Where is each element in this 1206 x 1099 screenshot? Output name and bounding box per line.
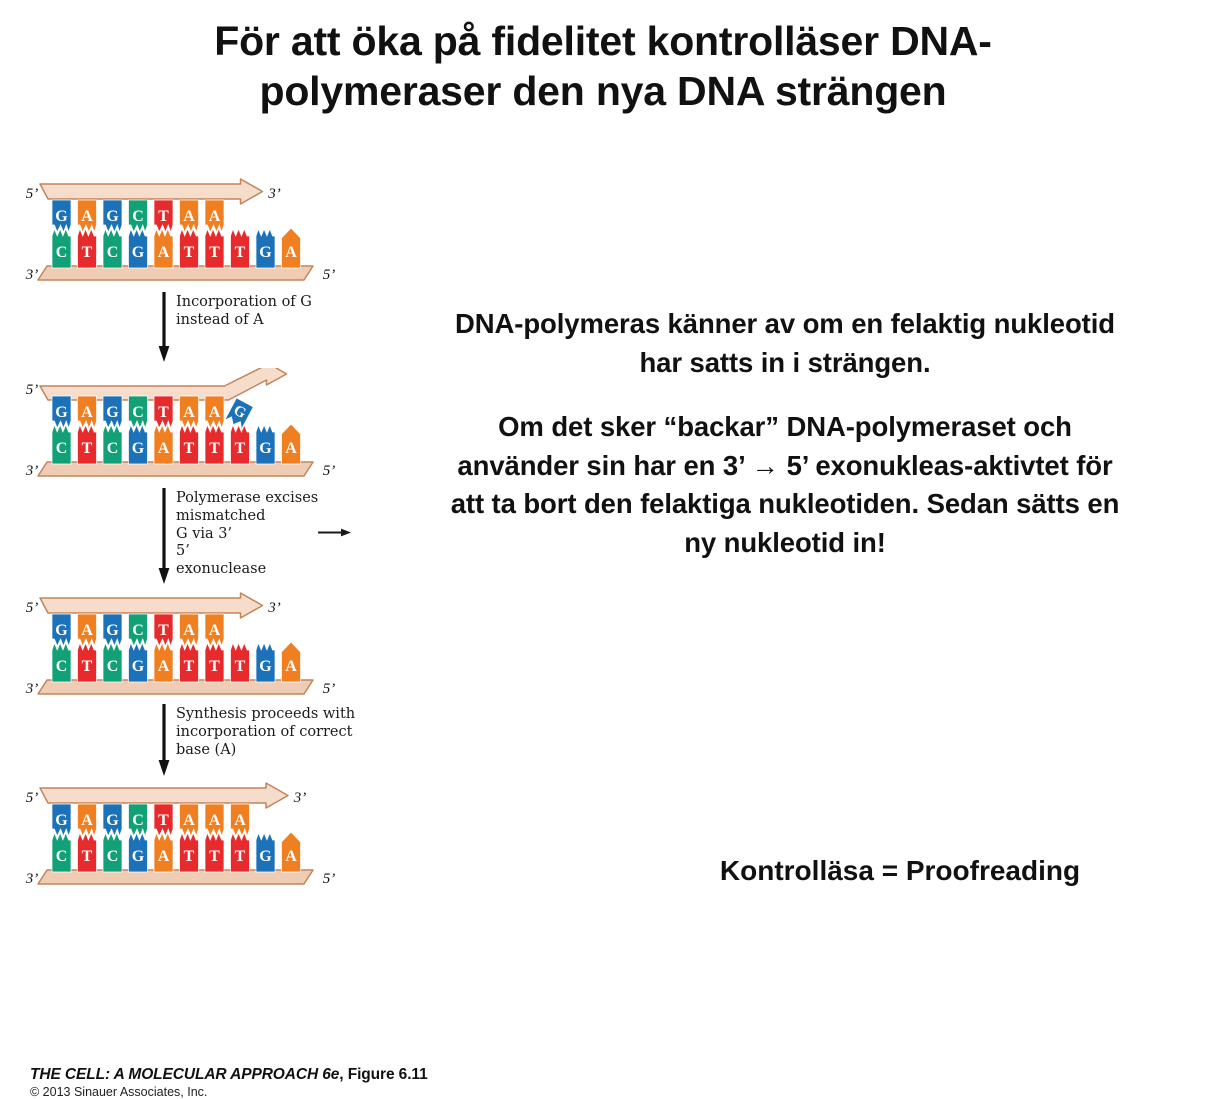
svg-text:3’: 3’: [267, 186, 281, 202]
svg-text:C: C: [56, 658, 68, 675]
svg-text:T: T: [184, 244, 195, 261]
svg-text:G: G: [132, 244, 145, 261]
svg-text:A: A: [158, 244, 170, 261]
svg-text:5’: 5’: [26, 600, 39, 616]
body-text-block: DNA-polymeras känner av om en felaktig n…: [440, 305, 1130, 562]
svg-text:A: A: [209, 208, 221, 225]
slide: För att öka på fidelitet kontrolläser DN…: [0, 0, 1206, 938]
svg-text:A: A: [81, 622, 93, 639]
svg-text:T: T: [209, 244, 220, 261]
svg-text:5’: 5’: [26, 790, 39, 806]
svg-text:G: G: [259, 848, 272, 865]
svg-text:A: A: [285, 440, 297, 457]
dna-panel-1: GAGCTAACTCGATTTGA5’3’3’5’: [8, 172, 368, 290]
svg-text:T: T: [158, 812, 169, 829]
svg-text:A: A: [158, 848, 170, 865]
svg-text:3’: 3’: [25, 871, 39, 887]
svg-text:C: C: [56, 244, 68, 261]
svg-text:T: T: [82, 440, 93, 457]
right-arrow-icon: [318, 528, 352, 537]
svg-text:A: A: [183, 208, 195, 225]
svg-text:C: C: [132, 622, 144, 639]
svg-text:G: G: [106, 622, 119, 639]
dna-panel-3: GAGCTAACTCGATTTGA5’3’3’5’: [8, 586, 368, 704]
svg-text:C: C: [107, 244, 119, 261]
svg-text:G: G: [132, 658, 145, 675]
svg-text:A: A: [158, 440, 170, 457]
figure-credit-book: THE CELL: A MOLECULAR APPROACH 6e: [30, 1066, 339, 1083]
title-line-1: För att öka på fidelitet kontrolläser DN…: [70, 16, 1136, 66]
figure-step-2: Polymerase excises mismatched G via 3’ 5…: [158, 488, 180, 586]
svg-text:G: G: [259, 244, 272, 261]
svg-text:C: C: [107, 658, 119, 675]
svg-text:A: A: [234, 812, 246, 829]
svg-text:5’: 5’: [323, 871, 336, 887]
page-title: För att öka på fidelitet kontrolläser DN…: [70, 16, 1136, 116]
svg-text:T: T: [235, 848, 246, 865]
figure-credit-number: , Figure 6.11: [339, 1066, 427, 1083]
svg-text:5’: 5’: [323, 681, 336, 697]
svg-text:5’: 5’: [323, 267, 336, 283]
dna-panel-2: GAGCTAACTCGATTTGAG5’3’3’5’: [8, 368, 368, 486]
svg-text:5’: 5’: [26, 186, 39, 202]
svg-text:T: T: [209, 848, 220, 865]
svg-text:G: G: [106, 812, 119, 829]
svg-text:T: T: [235, 440, 246, 457]
figure-step-1: Incorporation of G instead of A: [158, 292, 180, 364]
figure-step-2-caption-pre: Polymerase excises mismatched G via 3’: [176, 490, 318, 543]
svg-text:A: A: [209, 812, 221, 829]
svg-text:T: T: [82, 848, 93, 865]
svg-text:A: A: [183, 404, 195, 421]
svg-text:3’: 3’: [25, 463, 39, 479]
svg-text:C: C: [132, 404, 144, 421]
svg-text:A: A: [285, 658, 297, 675]
svg-text:A: A: [285, 244, 297, 261]
svg-text:3’: 3’: [295, 368, 309, 372]
svg-text:G: G: [106, 404, 119, 421]
svg-text:3’: 3’: [267, 600, 281, 616]
svg-text:T: T: [158, 208, 169, 225]
svg-text:C: C: [107, 848, 119, 865]
svg-text:T: T: [158, 404, 169, 421]
svg-text:T: T: [158, 622, 169, 639]
svg-text:A: A: [183, 622, 195, 639]
after-excision: GAGCTAACTCGATTTGA5’3’3’5’: [8, 586, 378, 706]
svg-text:C: C: [56, 848, 68, 865]
svg-text:A: A: [81, 404, 93, 421]
mismatch-before: GAGCTAACTCGATTTGA5’3’3’5’: [8, 172, 378, 292]
svg-text:A: A: [183, 812, 195, 829]
svg-text:C: C: [132, 812, 144, 829]
svg-text:G: G: [55, 208, 68, 225]
svg-text:G: G: [132, 440, 145, 457]
svg-text:A: A: [285, 848, 297, 865]
svg-text:T: T: [184, 658, 195, 675]
mismatched-g-incorporated: GAGCTAACTCGATTTGAG5’3’3’5’: [8, 368, 378, 488]
figure-step-1-caption: Incorporation of G instead of A: [176, 294, 426, 330]
svg-text:C: C: [56, 440, 68, 457]
svg-text:3’: 3’: [25, 681, 39, 697]
svg-text:G: G: [106, 208, 119, 225]
svg-text:C: C: [107, 440, 119, 457]
body-paragraph-1: DNA-polymeras känner av om en felaktig n…: [440, 305, 1130, 382]
svg-text:G: G: [259, 440, 272, 457]
figure-step-2-caption-post: 5’ exonuclease: [176, 543, 266, 579]
svg-text:G: G: [259, 658, 272, 675]
paragraph-spacer: [440, 382, 1130, 408]
title-line-2: polymeraser den nya DNA strängen: [70, 66, 1136, 116]
svg-text:3’: 3’: [293, 790, 307, 806]
svg-text:T: T: [235, 658, 246, 675]
correct-base-added: GAGCTAAACTCGATTTGA5’3’3’5’: [8, 776, 378, 896]
body-paragraph-2: Om det sker “backar” DNA-polymeraset och…: [440, 408, 1130, 562]
svg-text:G: G: [55, 622, 68, 639]
dna-proofreading-figure: GAGCTAACTCGATTTGA5’3’3’5’ GAGCTAACTCGATT…: [8, 172, 428, 938]
figure-step-2-caption: Polymerase excises mismatched G via 3’ 5…: [176, 490, 426, 579]
svg-text:3’: 3’: [25, 267, 39, 283]
svg-text:A: A: [81, 812, 93, 829]
svg-text:5’: 5’: [323, 463, 336, 479]
footnote-text: Kontrolläsa = Proofreading: [620, 855, 1180, 887]
svg-text:A: A: [81, 208, 93, 225]
svg-text:A: A: [209, 622, 221, 639]
svg-text:T: T: [209, 440, 220, 457]
svg-text:A: A: [158, 658, 170, 675]
figure-step-3-caption: Synthesis proceeds with incorporation of…: [176, 706, 426, 759]
svg-text:G: G: [55, 404, 68, 421]
figure-credit: THE CELL: A MOLECULAR APPROACH 6e, Figur…: [30, 1066, 500, 1099]
svg-text:G: G: [132, 848, 145, 865]
svg-text:G: G: [55, 812, 68, 829]
svg-text:5’: 5’: [26, 382, 39, 398]
svg-text:A: A: [209, 404, 221, 421]
figure-step-3: Synthesis proceeds with incorporation of…: [158, 704, 180, 778]
svg-text:T: T: [82, 244, 93, 261]
dna-panel-4: GAGCTAAACTCGATTTGA5’3’3’5’: [8, 776, 368, 894]
mismatched-base: G: [225, 398, 254, 429]
figure-credit-copyright: © 2013 Sinauer Associates, Inc.: [30, 1085, 500, 1099]
svg-text:C: C: [132, 208, 144, 225]
svg-text:T: T: [184, 848, 195, 865]
svg-text:T: T: [82, 658, 93, 675]
svg-text:T: T: [209, 658, 220, 675]
svg-text:T: T: [235, 244, 246, 261]
svg-text:T: T: [184, 440, 195, 457]
figure-credit-title: THE CELL: A MOLECULAR APPROACH 6e, Figur…: [30, 1066, 500, 1084]
